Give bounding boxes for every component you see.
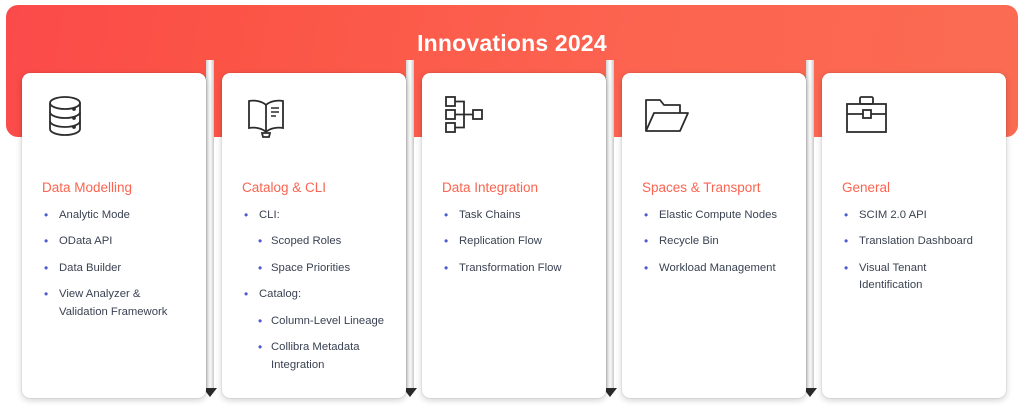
card-connector-1 — [206, 60, 214, 390]
card-data-modelling[interactable]: Data Modelling Analytic Mode OData API D… — [22, 73, 206, 398]
list-item: Translation Dashboard — [842, 233, 992, 251]
open-book-icon — [242, 93, 392, 147]
card-connector-3 — [606, 60, 614, 390]
list-item: Visual Tenant Identification — [842, 260, 992, 295]
open-folder-icon — [642, 93, 792, 147]
list-item: View Analyzer & Validation Framework — [42, 286, 192, 321]
list-item: Collibra Metadata Integration — [242, 339, 392, 374]
list-item: Workload Management — [642, 260, 792, 278]
briefcase-icon — [842, 93, 992, 147]
list-item: Transformation Flow — [442, 260, 592, 278]
list-item: SCIM 2.0 API — [842, 207, 992, 225]
infographic-root: Innovations 2024 Data Modelling Analytic… — [0, 0, 1024, 411]
list-item: Replication Flow — [442, 233, 592, 251]
list-item: Recycle Bin — [642, 233, 792, 251]
card-title: Catalog & CLI — [242, 179, 392, 197]
card-spaces-transport[interactable]: Spaces & Transport Elastic Compute Nodes… — [622, 73, 806, 398]
card-catalog-cli[interactable]: Catalog & CLI CLI: Scoped Roles Space Pr… — [222, 73, 406, 398]
list-item: Data Builder — [42, 260, 192, 278]
card-title: Data Integration — [442, 179, 592, 197]
card-bullet-list: CLI: Scoped Roles Space Priorities Catal… — [242, 207, 392, 375]
list-item: Task Chains — [442, 207, 592, 225]
card-data-integration[interactable]: Data Integration Task Chains Replication… — [422, 73, 606, 398]
card-title: Data Modelling — [42, 179, 192, 197]
card-bullet-list: Elastic Compute Nodes Recycle Bin Worklo… — [642, 207, 792, 278]
list-item: Elastic Compute Nodes — [642, 207, 792, 225]
card-connector-4 — [806, 60, 814, 390]
card-bullet-list: Analytic Mode OData API Data Builder Vie… — [42, 207, 192, 322]
list-item: CLI: — [242, 207, 392, 225]
list-item: OData API — [42, 233, 192, 251]
card-title: General — [842, 179, 992, 197]
list-item: Space Priorities — [242, 260, 392, 278]
list-item: Scoped Roles — [242, 233, 392, 251]
card-bullet-list: Task Chains Replication Flow Transformat… — [442, 207, 592, 278]
card-connector-2 — [406, 60, 414, 390]
card-title: Spaces & Transport — [642, 179, 792, 197]
hierarchy-flow-icon — [442, 93, 592, 147]
database-icon — [42, 93, 192, 147]
list-item: Column-Level Lineage — [242, 313, 392, 331]
card-bullet-list: SCIM 2.0 API Translation Dashboard Visua… — [842, 207, 992, 295]
card-general[interactable]: General SCIM 2.0 API Translation Dashboa… — [822, 73, 1006, 398]
list-item: Analytic Mode — [42, 207, 192, 225]
page-title: Innovations 2024 — [6, 30, 1018, 57]
list-item: Catalog: — [242, 286, 392, 304]
